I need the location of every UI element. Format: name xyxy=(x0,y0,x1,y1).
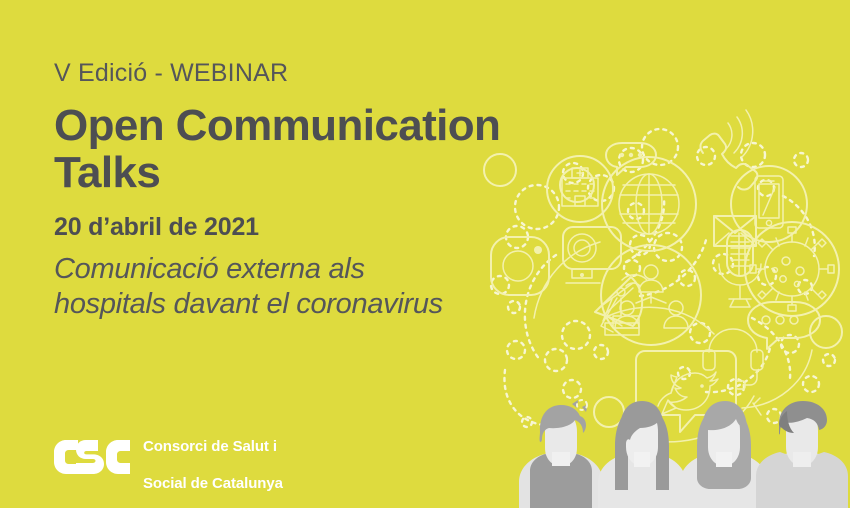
organisation-name-line-1: Consorci de Salut i xyxy=(143,438,277,455)
telephone-handset-icon xyxy=(700,110,757,190)
organisation-name-line-2: Social de Catalunya xyxy=(143,475,283,492)
satellite-dish-icon xyxy=(595,275,647,335)
person-2 xyxy=(598,401,686,508)
person-3 xyxy=(680,401,768,508)
bird-chat-icon xyxy=(636,351,736,432)
people-group-icon xyxy=(601,245,701,345)
event-subtitle: Comunicació externa als hospitals davant… xyxy=(54,252,574,323)
webinar-poster: .ln { fill:none; stroke:#f3f1ad; stroke-… xyxy=(0,0,850,508)
headset-icon xyxy=(703,329,763,389)
page-title-line-1: Open Communication xyxy=(54,101,500,150)
people-silhouettes xyxy=(519,400,848,508)
speech-bubble-dots-icon xyxy=(606,143,656,175)
smartphone-icon xyxy=(731,166,807,242)
head-sparkles xyxy=(577,398,761,415)
person-4 xyxy=(756,401,848,508)
person-1 xyxy=(519,400,603,508)
event-subtitle-line-2: hospitals davant el coronavirus xyxy=(54,288,443,320)
poster-text-block: V Edició - WEBINAR Open Communication Ta… xyxy=(54,60,574,323)
globe-icon xyxy=(602,157,696,251)
event-date: 20 d’abril de 2021 xyxy=(54,214,574,242)
organisation-name: Consorci de Salut i Social de Catalunya xyxy=(143,420,283,493)
microphone-icon xyxy=(719,230,761,307)
organisation-logo: Consorci de Salut i Social de Catalunya xyxy=(54,420,283,493)
edition-eyebrow: V Edició - WEBINAR xyxy=(54,60,574,88)
virus-icon xyxy=(745,222,839,316)
envelope-icon xyxy=(714,216,756,246)
csc-logo-icon xyxy=(54,440,130,474)
page-title-line-2: Talks xyxy=(54,148,160,197)
event-subtitle-line-1: Comunicació externa als xyxy=(54,253,365,285)
speech-bubble-icon xyxy=(748,302,820,349)
page-title: Open Communication Talks xyxy=(54,102,574,197)
